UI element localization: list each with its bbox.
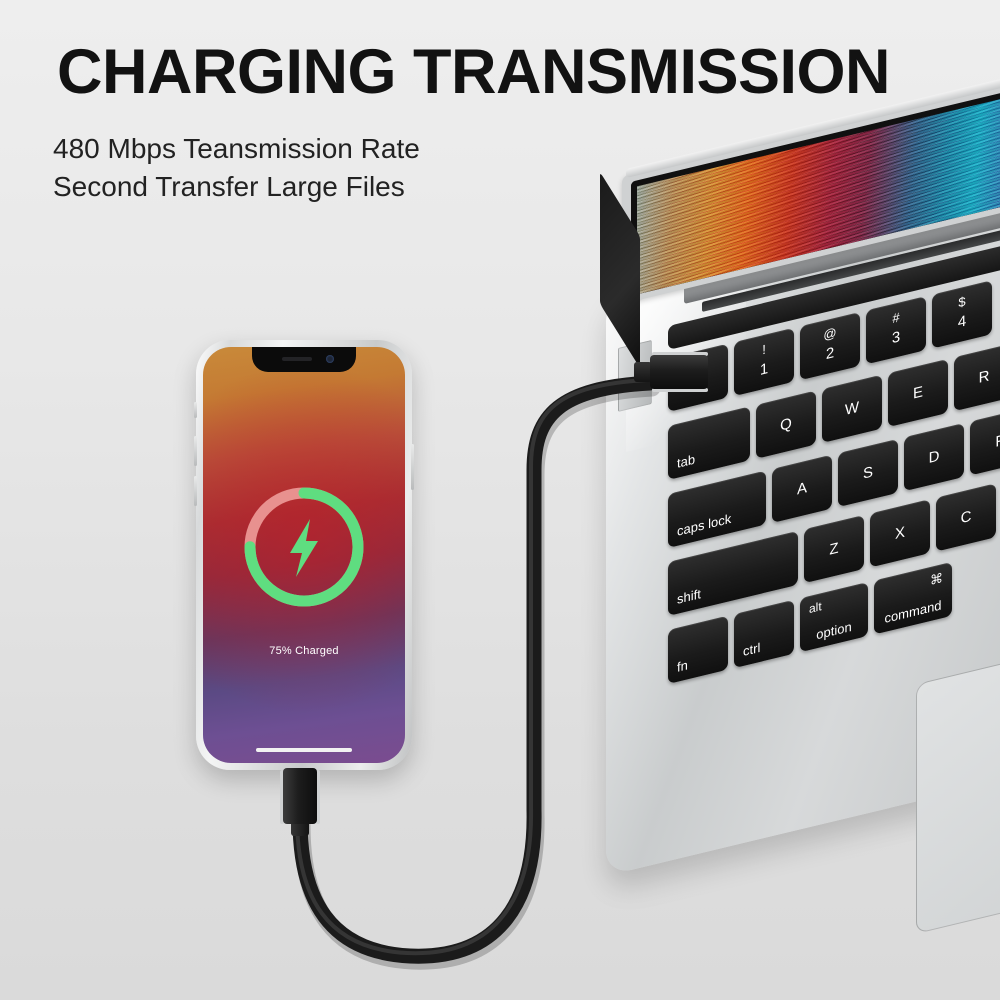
key-r[interactable]: R	[954, 343, 1000, 411]
key-label: W	[822, 393, 882, 424]
key-tab[interactable]: tab	[668, 406, 750, 480]
subtitle-line-1: 480 Mbps Teansmission Rate	[53, 129, 420, 169]
key-label: X	[870, 518, 930, 549]
key-2[interactable]: @2	[800, 312, 860, 380]
key-caps-lock[interactable]: caps lock	[668, 470, 766, 548]
key-z[interactable]: Z	[804, 515, 864, 583]
phone-home-indicator	[256, 748, 352, 752]
key-label: E	[888, 377, 948, 408]
phone-mute-switch[interactable]	[194, 402, 197, 418]
key-label: R	[954, 361, 1000, 392]
key-e[interactable]: E	[888, 359, 948, 427]
key-a[interactable]: A	[772, 455, 832, 523]
lightning-bolt-icon	[290, 519, 318, 577]
key-4[interactable]: $4	[932, 280, 992, 348]
key-w[interactable]: W	[822, 375, 882, 443]
phone-notch	[252, 347, 356, 372]
key-label: alt	[809, 599, 822, 616]
phone-front-camera	[326, 355, 334, 363]
key-x[interactable]: X	[870, 499, 930, 567]
subtitle-line-2: Second Transfer Large Files	[53, 167, 405, 207]
key-label: caps lock	[677, 511, 731, 539]
key-s[interactable]: S	[838, 439, 898, 507]
key-label: ⌘	[930, 570, 943, 589]
key-label: S	[838, 457, 898, 488]
key-label: F	[970, 426, 1000, 457]
key-label: fn	[677, 657, 688, 675]
key-label: C	[936, 502, 996, 533]
charging-progress-ring	[234, 477, 374, 617]
key-label: shift	[677, 586, 701, 607]
key-3[interactable]: #3	[866, 296, 926, 364]
key-label: D	[904, 441, 964, 472]
key-label: A	[772, 473, 832, 504]
key-f[interactable]: F	[970, 407, 1000, 475]
key-label: Z	[804, 533, 864, 564]
key-1[interactable]: !1	[734, 328, 794, 396]
phone-earpiece-speaker	[282, 357, 312, 361]
key-q[interactable]: Q	[756, 390, 816, 458]
phone-volume-up-button[interactable]	[194, 436, 197, 466]
key-c[interactable]: C	[936, 483, 996, 551]
phone-screen[interactable]: 75% Charged	[203, 347, 405, 763]
usb-c-connector-phone-end	[283, 768, 317, 824]
product-marketing-image: CHARGING TRANSMISSION 480 Mbps Teansmiss…	[0, 0, 1000, 1000]
charge-status-label: 75% Charged	[203, 645, 405, 657]
key-d[interactable]: D	[904, 423, 964, 491]
connector-body	[283, 768, 317, 824]
page-title: CHARGING TRANSMISSION	[57, 41, 890, 104]
key-label: tab	[677, 451, 695, 470]
phone-power-button[interactable]	[411, 444, 414, 490]
usb-c-connector-laptop-end	[650, 355, 708, 389]
phone-volume-down-button[interactable]	[194, 476, 197, 506]
laptop: ~`!1@2#3$4 tabQWER caps lockASDF shiftZX…	[586, 176, 1000, 916]
key-label: Q	[756, 409, 816, 440]
connector-body	[650, 355, 708, 389]
smartphone: 75% Charged	[196, 340, 412, 770]
key-label: ctrl	[743, 640, 760, 659]
